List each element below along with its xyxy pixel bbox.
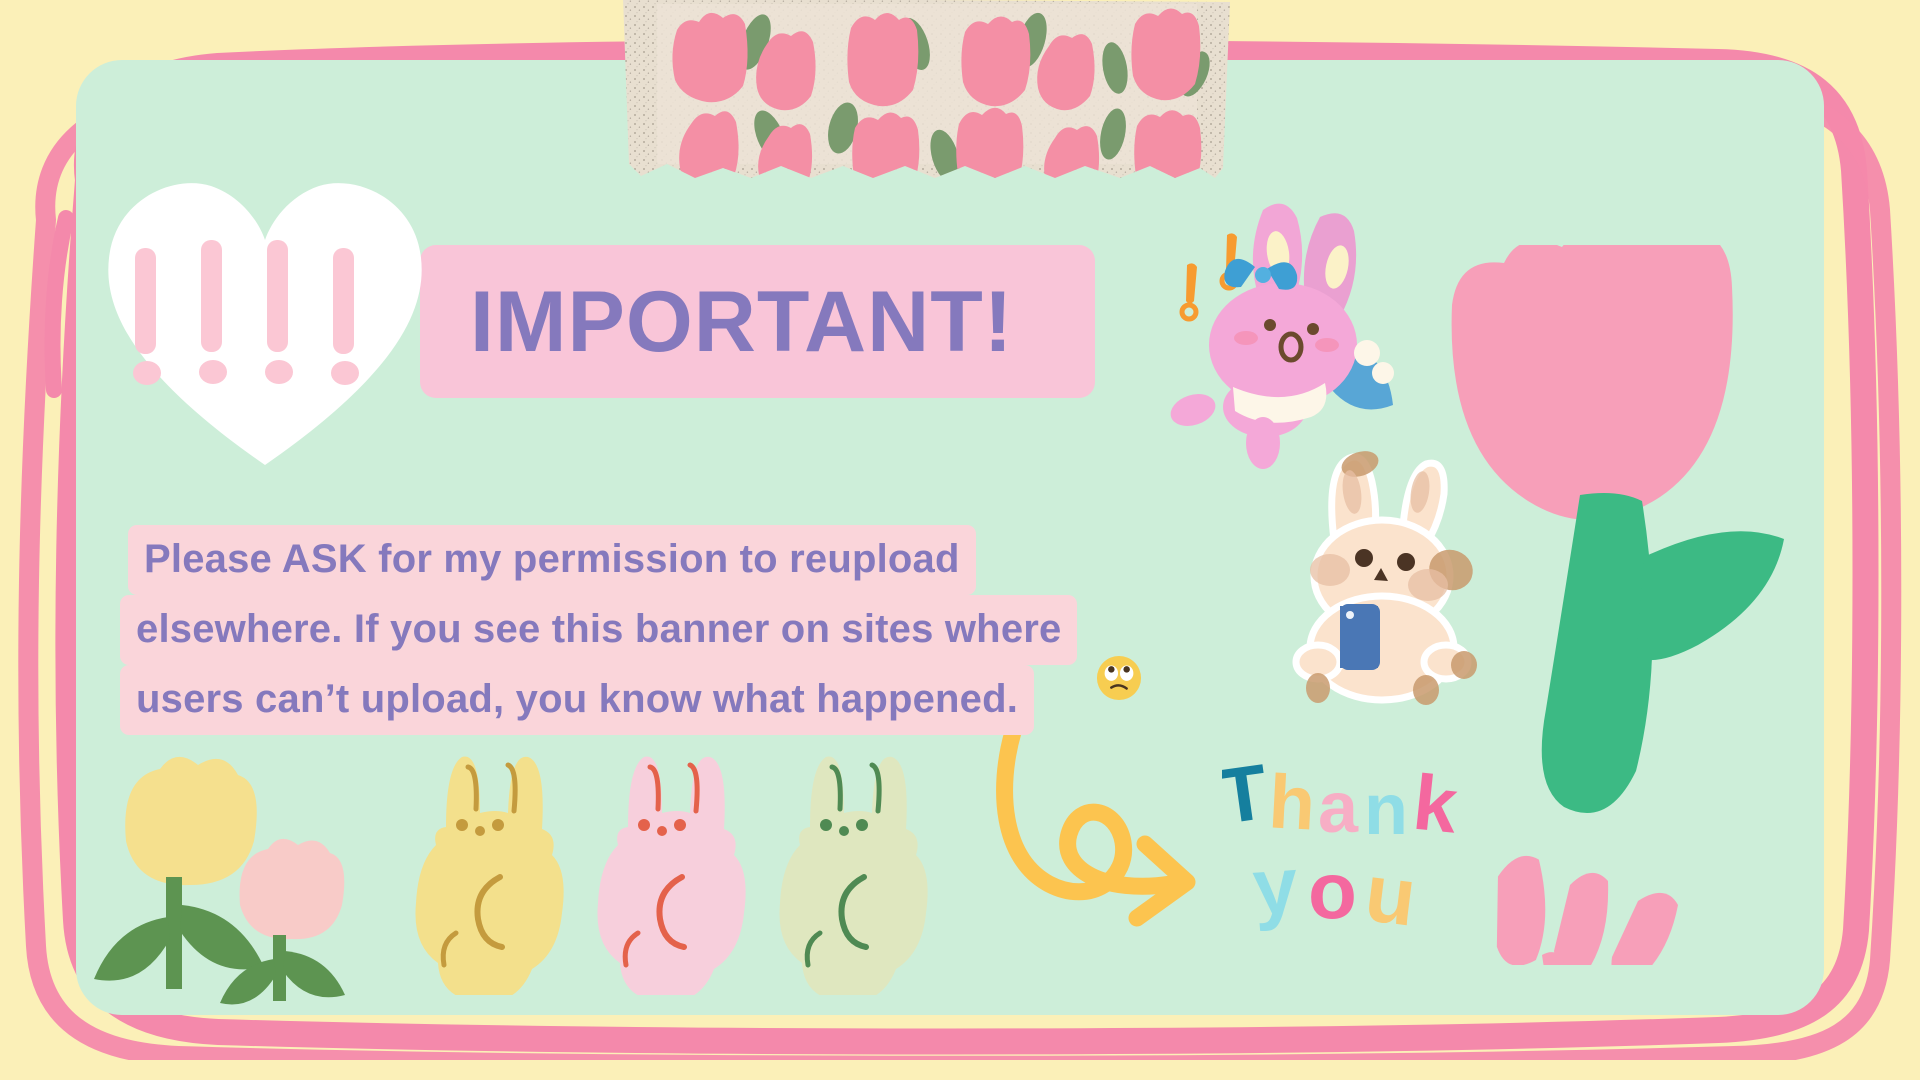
yellow-candy-bunny: [415, 756, 563, 995]
face-with-rolling-eyes-icon: [1096, 655, 1142, 701]
pink-candy-bunny: [597, 756, 745, 995]
thankyou-letter-h: h: [1267, 759, 1318, 846]
small-tulips-group: [88, 745, 378, 1005]
thankyou-letter-y: y: [1250, 840, 1301, 932]
page-title: IMPORTANT!: [470, 262, 1110, 382]
candy-bunnies-group: [400, 745, 940, 995]
body-text-block: Please ASK for my permission to reupload…: [120, 525, 1077, 735]
curly-yellow-arrow-icon: [995, 718, 1260, 938]
thankyou-letter-T: T: [1222, 752, 1273, 841]
thank-you-lettering: T h a n k y o u: [1222, 752, 1522, 952]
banner-stage: IMPORTANT! Please ASK for my permission …: [0, 0, 1920, 1080]
thankyou-letter-u: u: [1360, 847, 1421, 943]
thankyou-letter-k: k: [1409, 758, 1462, 850]
thank-you-svg: T h a n k y o u: [1222, 752, 1522, 952]
body-line-3: users can’t upload, you know what happen…: [120, 665, 1034, 735]
green-candy-bunny: [779, 756, 927, 995]
tulip-washi-tape: [615, 0, 1240, 214]
body-line-2: elsewhere. If you see this banner on sit…: [120, 595, 1077, 665]
body-line-1: Please ASK for my permission to reupload: [128, 525, 976, 595]
thankyou-letter-n: n: [1364, 770, 1408, 850]
yellow-tulip: [94, 757, 264, 989]
heart-svg: [95, 160, 435, 480]
washi-tape-svg: [615, 0, 1240, 214]
cream-bunny-with-phone-sticker: [1278, 440, 1493, 710]
thankyou-letter-o: o: [1308, 846, 1357, 935]
thank-you-text-line1: Thank: [0, 0, 1, 1]
white-heart-with-exclamations: [95, 160, 435, 480]
thankyou-letter-a: a: [1318, 768, 1359, 848]
thank-you-text-line2: you: [0, 0, 1, 1]
